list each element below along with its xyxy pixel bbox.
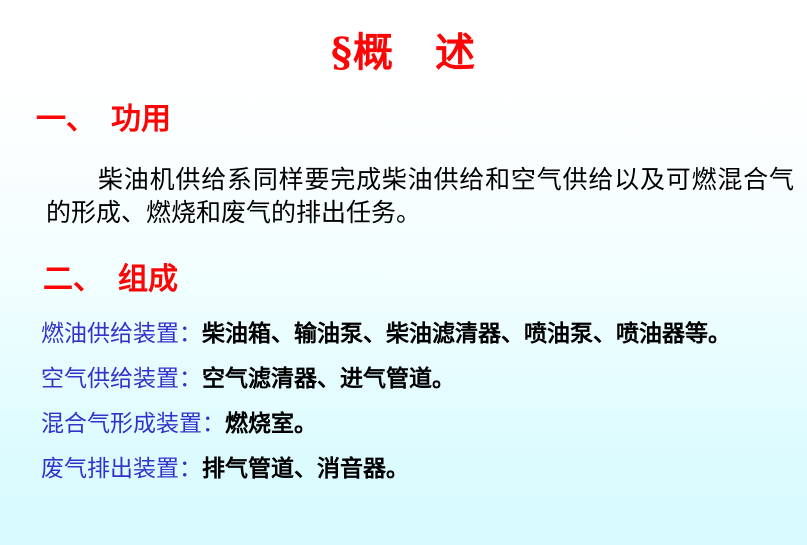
- slide-canvas: §概 述 一、 功用 柴油机供给系同样要完成柴油供给和空气供给以及可燃混合气的形…: [0, 0, 807, 545]
- section-heading-function: 一、 功用: [36, 103, 171, 136]
- list-item-value: 排气管道、消音器。: [202, 455, 409, 482]
- list-item-label: 空气供给装置：: [41, 366, 202, 392]
- list-item: 混合气形成装置：燃烧室。: [41, 412, 801, 457]
- list-item-value: 空气滤清器、进气管道。: [202, 365, 455, 392]
- composition-list: 燃油供给装置：柴油箱、输油泵、柴油滤清器、喷油泵、喷油器等。 空气供给装置：空气…: [41, 322, 801, 502]
- body-paragraph: 柴油机供给系同样要完成柴油供给和空气供给以及可燃混合气的形成、燃烧和废气的排出任…: [46, 163, 794, 229]
- list-item-label: 废气排出装置：: [41, 456, 202, 482]
- list-item: 燃油供给装置：柴油箱、输油泵、柴油滤清器、喷油泵、喷油器等。: [41, 322, 801, 367]
- section-heading-composition: 二、 组成: [43, 263, 178, 296]
- list-item-label: 燃油供给装置：: [41, 321, 202, 347]
- list-item: 废气排出装置：排气管道、消音器。: [41, 457, 801, 502]
- list-item-value: 燃烧室。: [225, 410, 317, 437]
- list-item-label: 混合气形成装置：: [41, 411, 225, 437]
- page-title: §概 述: [0, 32, 807, 74]
- list-item-value: 柴油箱、输油泵、柴油滤清器、喷油泵、喷油器等。: [202, 320, 731, 347]
- list-item: 空气供给装置：空气滤清器、进气管道。: [41, 367, 801, 412]
